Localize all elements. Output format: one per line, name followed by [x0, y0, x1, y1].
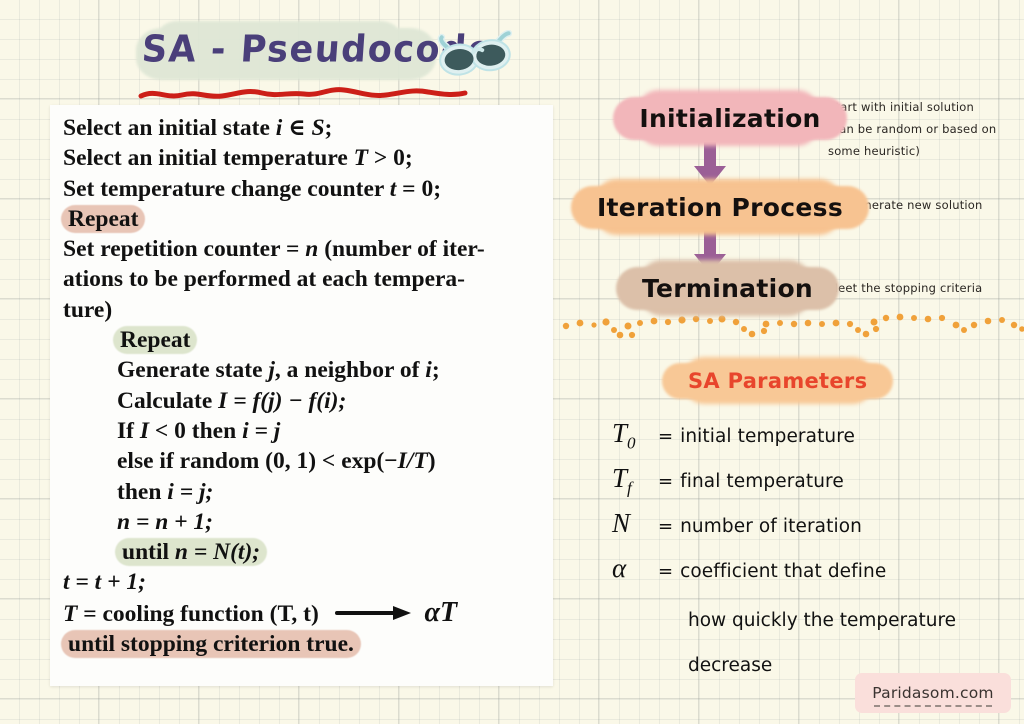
highlight-repeat-outer: Repeat: [63, 204, 143, 234]
code-line-9: If I < 0 then i = j: [63, 416, 545, 446]
code-line-5b: ations to be performed at each tempera-: [63, 264, 545, 294]
param-symbol: T0: [612, 418, 658, 453]
sa-parameters-list: T0 = initial temperature Tf = final temp…: [612, 418, 1024, 688]
param-symbol: N: [612, 508, 658, 543]
pseudocode-text: Select an initial state i ∈ S; Select an…: [63, 113, 545, 659]
code-line-14: t = t + 1;: [63, 567, 545, 597]
param-continuation: how quickly the temperature: [612, 598, 1024, 643]
param-symbol: α: [612, 553, 658, 588]
notebook-page: SA - Pseudocode Select an initial state …: [0, 0, 1024, 724]
highlight-until-inner: until n = N(t);: [117, 537, 265, 567]
highlight-repeat-inner: Repeat: [115, 325, 195, 355]
code-line-8: Calculate I = f(j) − f(i);: [63, 386, 545, 416]
code-line-15: T = cooling function (T, t) αT: [63, 598, 545, 629]
flow-step-termination-label: Termination: [626, 271, 829, 306]
code-line-3: Set temperature change counter t = 0;: [63, 174, 545, 204]
code-line-10: else if random (0, 1) < exp(−I/T): [63, 446, 545, 476]
arrow-right-icon: [335, 605, 413, 621]
right-column: Initialization Start with initial soluti…: [560, 0, 1024, 724]
param-row: α = coefficient that define: [612, 553, 1024, 598]
code-line-12: n = n + 1;: [63, 507, 545, 537]
sa-parameters-title: SA Parameters: [670, 366, 885, 396]
param-description: coefficient that define: [680, 561, 886, 582]
flow-note-termination: Meet the stopping criteria: [828, 277, 982, 299]
watermark-text: Paridasom.com: [872, 684, 993, 702]
code-line-2: Select an initial temperature T > 0;: [63, 143, 545, 173]
flow-step-iteration-process[interactable]: Iteration Process: [580, 185, 860, 229]
param-row: T0 = initial temperature: [612, 418, 1024, 463]
param-equals: =: [658, 426, 673, 447]
flow-step-termination[interactable]: Termination: [620, 266, 835, 310]
pseudocode-card: Select an initial state i ∈ S; Select an…: [50, 105, 553, 686]
flow-step-initialization-label: Initialization: [623, 101, 836, 136]
param-description: final temperature: [680, 471, 844, 492]
param-equals: =: [658, 516, 673, 537]
title-underline-squiggle: [138, 84, 468, 102]
param-equals: =: [658, 471, 673, 492]
code-line-4-repeat-outer: Repeat: [63, 204, 545, 234]
code-line-5a: Set repetition counter = n (number of it…: [63, 234, 545, 264]
sunglasses-icon: [428, 30, 520, 86]
flow-step-iteration-process-label: Iteration Process: [581, 190, 859, 225]
flow-note-initialization: Start with initial solution (can be rand…: [828, 96, 996, 162]
code-line-11: then i = j;: [63, 477, 545, 507]
code-line-6-repeat-inner: Repeat: [63, 325, 545, 355]
code-line-16-until-outer: until stopping criterion true.: [63, 629, 545, 659]
sa-parameters-title-wrap: SA Parameters: [670, 366, 900, 406]
param-symbol: Tf: [612, 463, 658, 498]
flow-step-initialization[interactable]: Initialization: [615, 96, 845, 140]
watermark-badge[interactable]: Paridasom.com: [855, 673, 1011, 713]
param-row: N = number of iteration: [612, 508, 1024, 553]
code-line-7: Generate state j, a neighbor of i;: [63, 355, 545, 385]
param-row: Tf = final temperature: [612, 463, 1024, 508]
param-equals: =: [658, 561, 673, 582]
code-line-13-until-inner: until n = N(t);: [63, 537, 545, 567]
highlight-until-outer: until stopping criterion true.: [63, 629, 359, 659]
param-description: number of iteration: [680, 516, 862, 537]
code-line-1: Select an initial state i ∈ S;: [63, 113, 545, 143]
param-description: initial temperature: [680, 426, 855, 447]
code-line-5c: ture): [63, 295, 545, 325]
